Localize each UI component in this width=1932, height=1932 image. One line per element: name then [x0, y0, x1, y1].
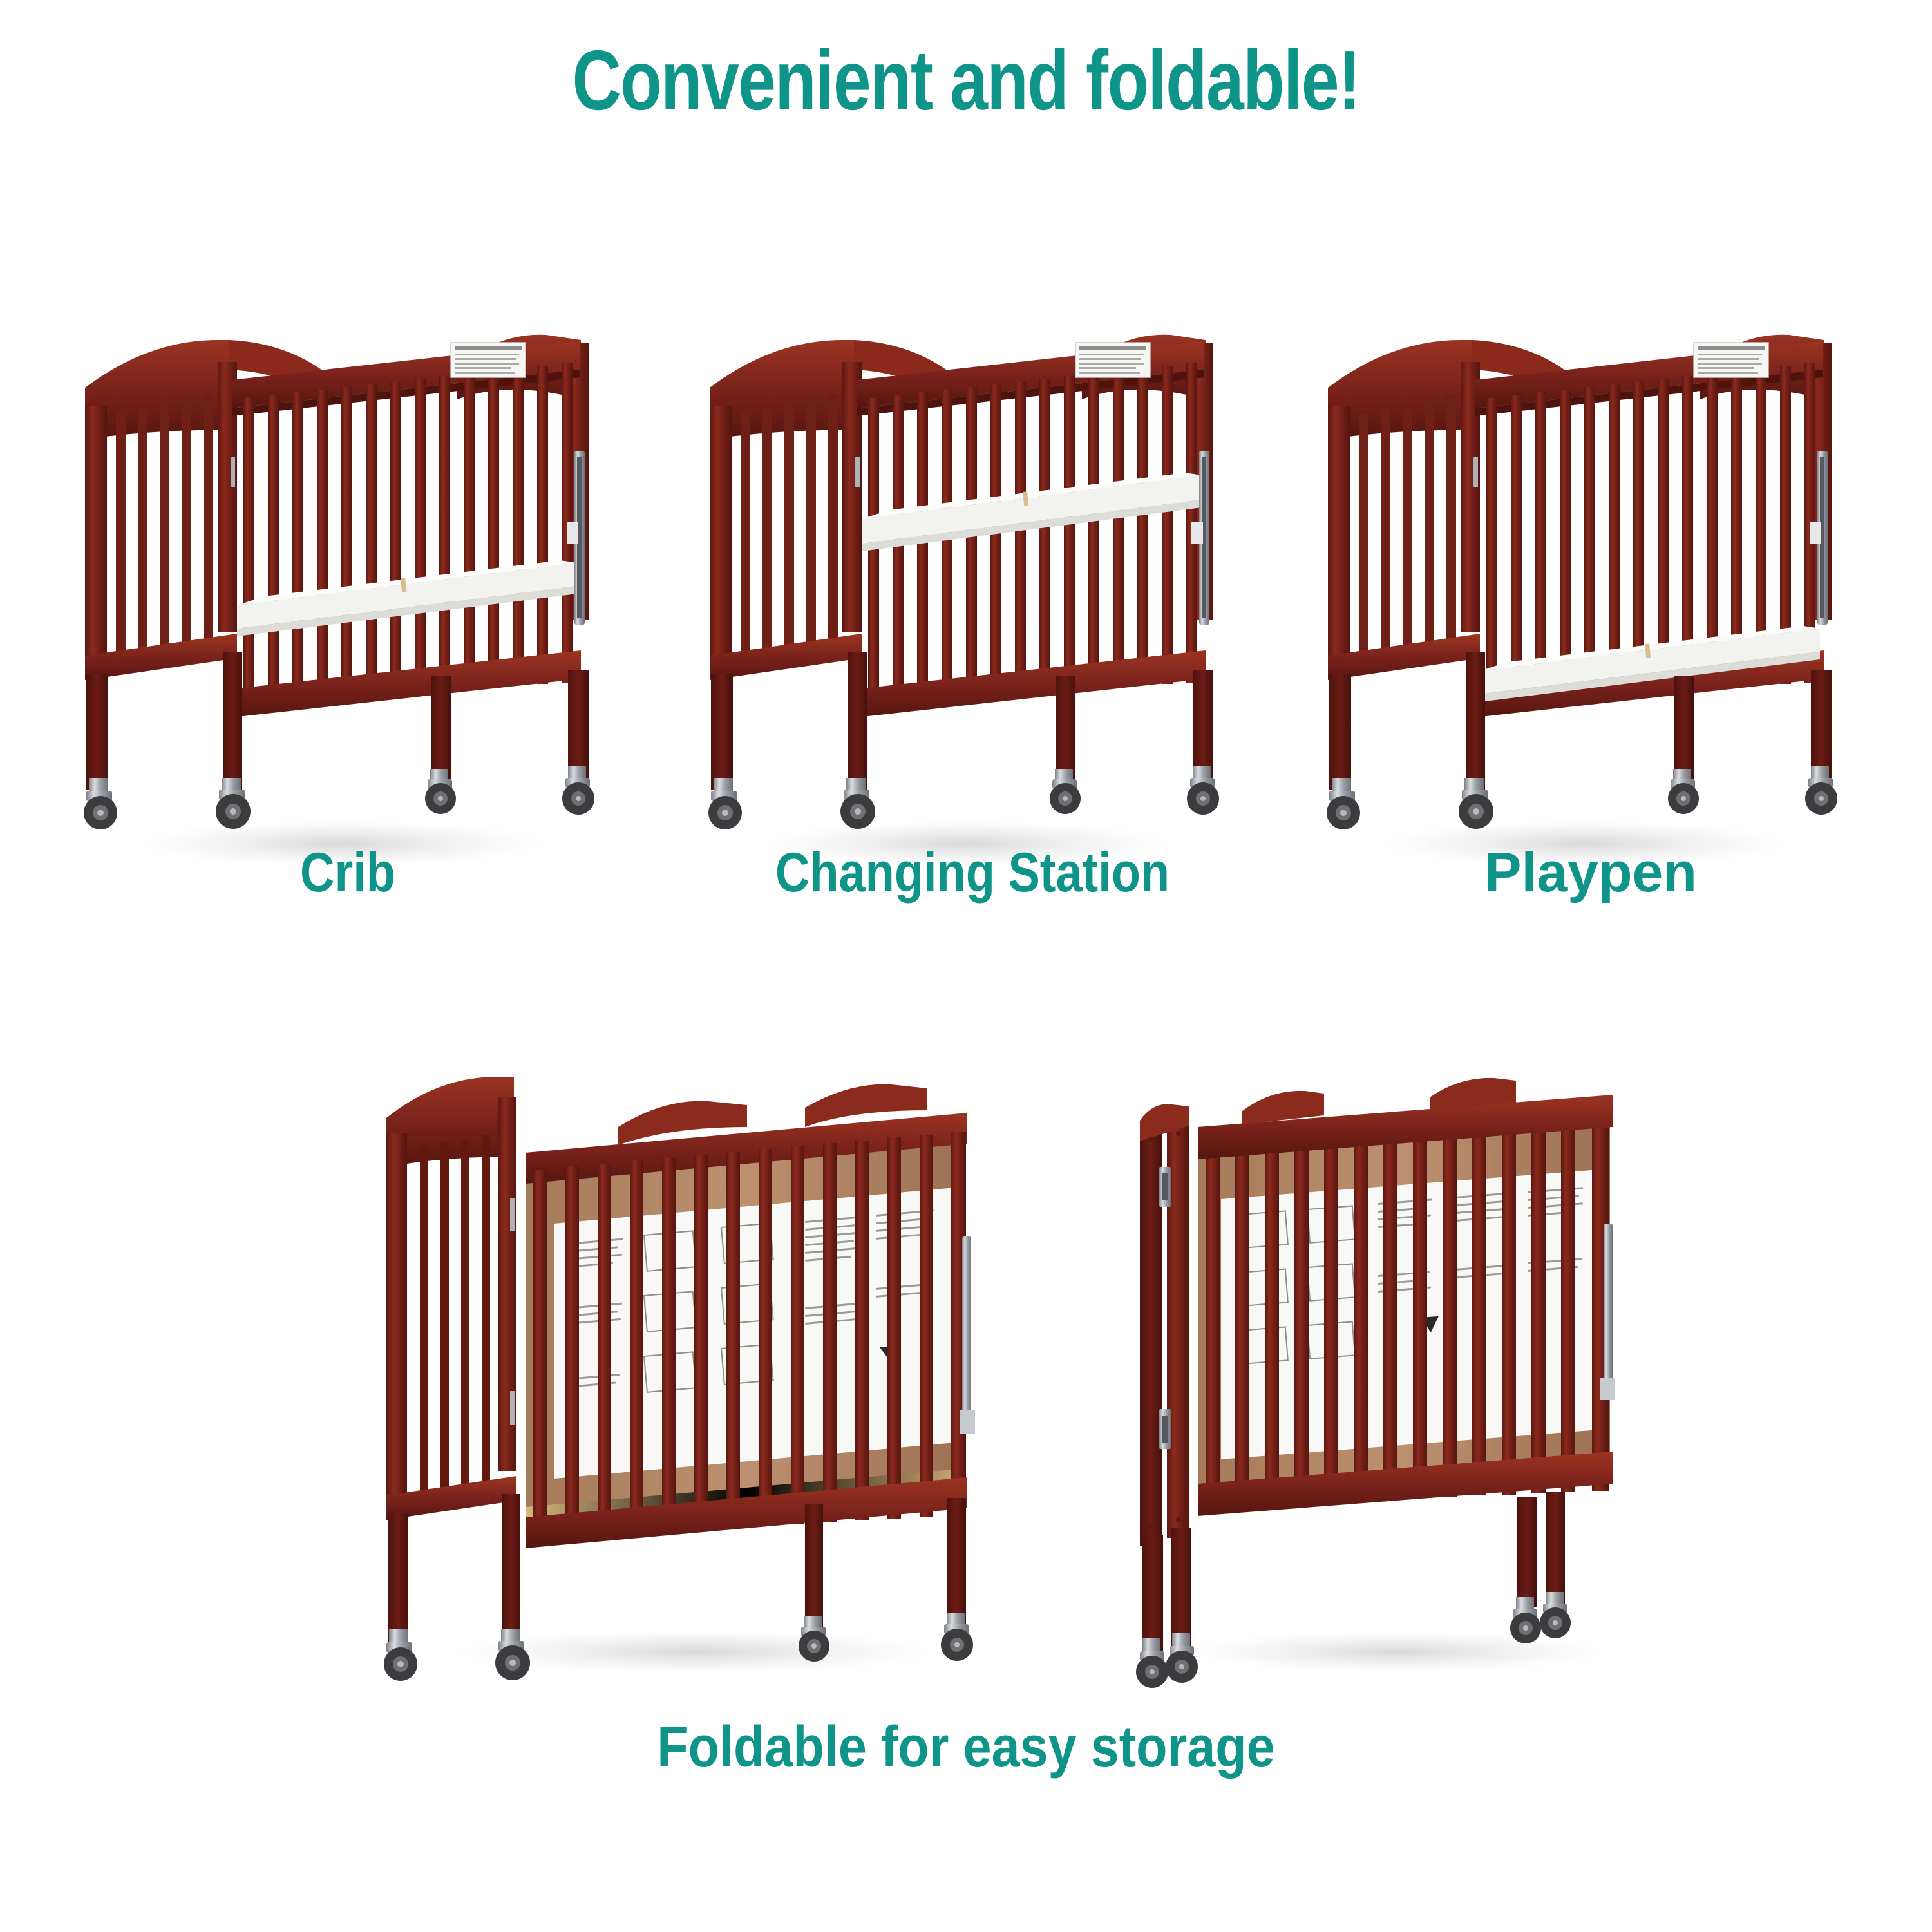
hinge-plate-icon	[510, 1198, 515, 1231]
hinge-plate-icon	[1473, 457, 1478, 487]
hinge-plate-icon	[231, 457, 235, 487]
caption-crib: Crib	[109, 845, 586, 900]
warning-label	[451, 343, 526, 377]
crib-mattress	[237, 560, 577, 636]
crib-mattress-high	[862, 473, 1202, 551]
page-title: Convenient and foldable!	[193, 36, 1739, 126]
hinge-plate-icon	[855, 457, 860, 487]
crib-legs	[1142, 1492, 1565, 1651]
product-image-changing-station	[696, 303, 1249, 882]
folded-rear-panel	[386, 1077, 516, 1520]
product-image-crib	[71, 303, 625, 882]
crib-slats	[243, 363, 573, 701]
product-image-folded-partial	[361, 1030, 1024, 1694]
caption-changing-station: Changing Station	[734, 845, 1211, 900]
folded-flat-body	[1198, 1078, 1613, 1516]
crib-illustration	[71, 303, 625, 882]
warning-label	[1075, 343, 1150, 377]
hinge-plate-icon	[510, 1391, 515, 1425]
folded-end-panel-edge	[1140, 1104, 1189, 1546]
caption-playpen: Playpen	[1314, 845, 1868, 900]
warning-label	[1694, 343, 1768, 377]
folded-flat-illustration	[1095, 1030, 1694, 1694]
caption-foldable-storage: Foldable for easy storage	[116, 1718, 1816, 1776]
changing-station-illustration	[696, 303, 1249, 882]
product-image-playpen	[1314, 303, 1868, 882]
product-image-folded-flat	[1095, 1030, 1694, 1694]
folded-partial-illustration	[361, 1030, 1024, 1694]
infographic-page: Convenient and foldable!	[0, 0, 1932, 1932]
playpen-illustration	[1314, 303, 1868, 882]
crib-front-side	[232, 341, 581, 717]
